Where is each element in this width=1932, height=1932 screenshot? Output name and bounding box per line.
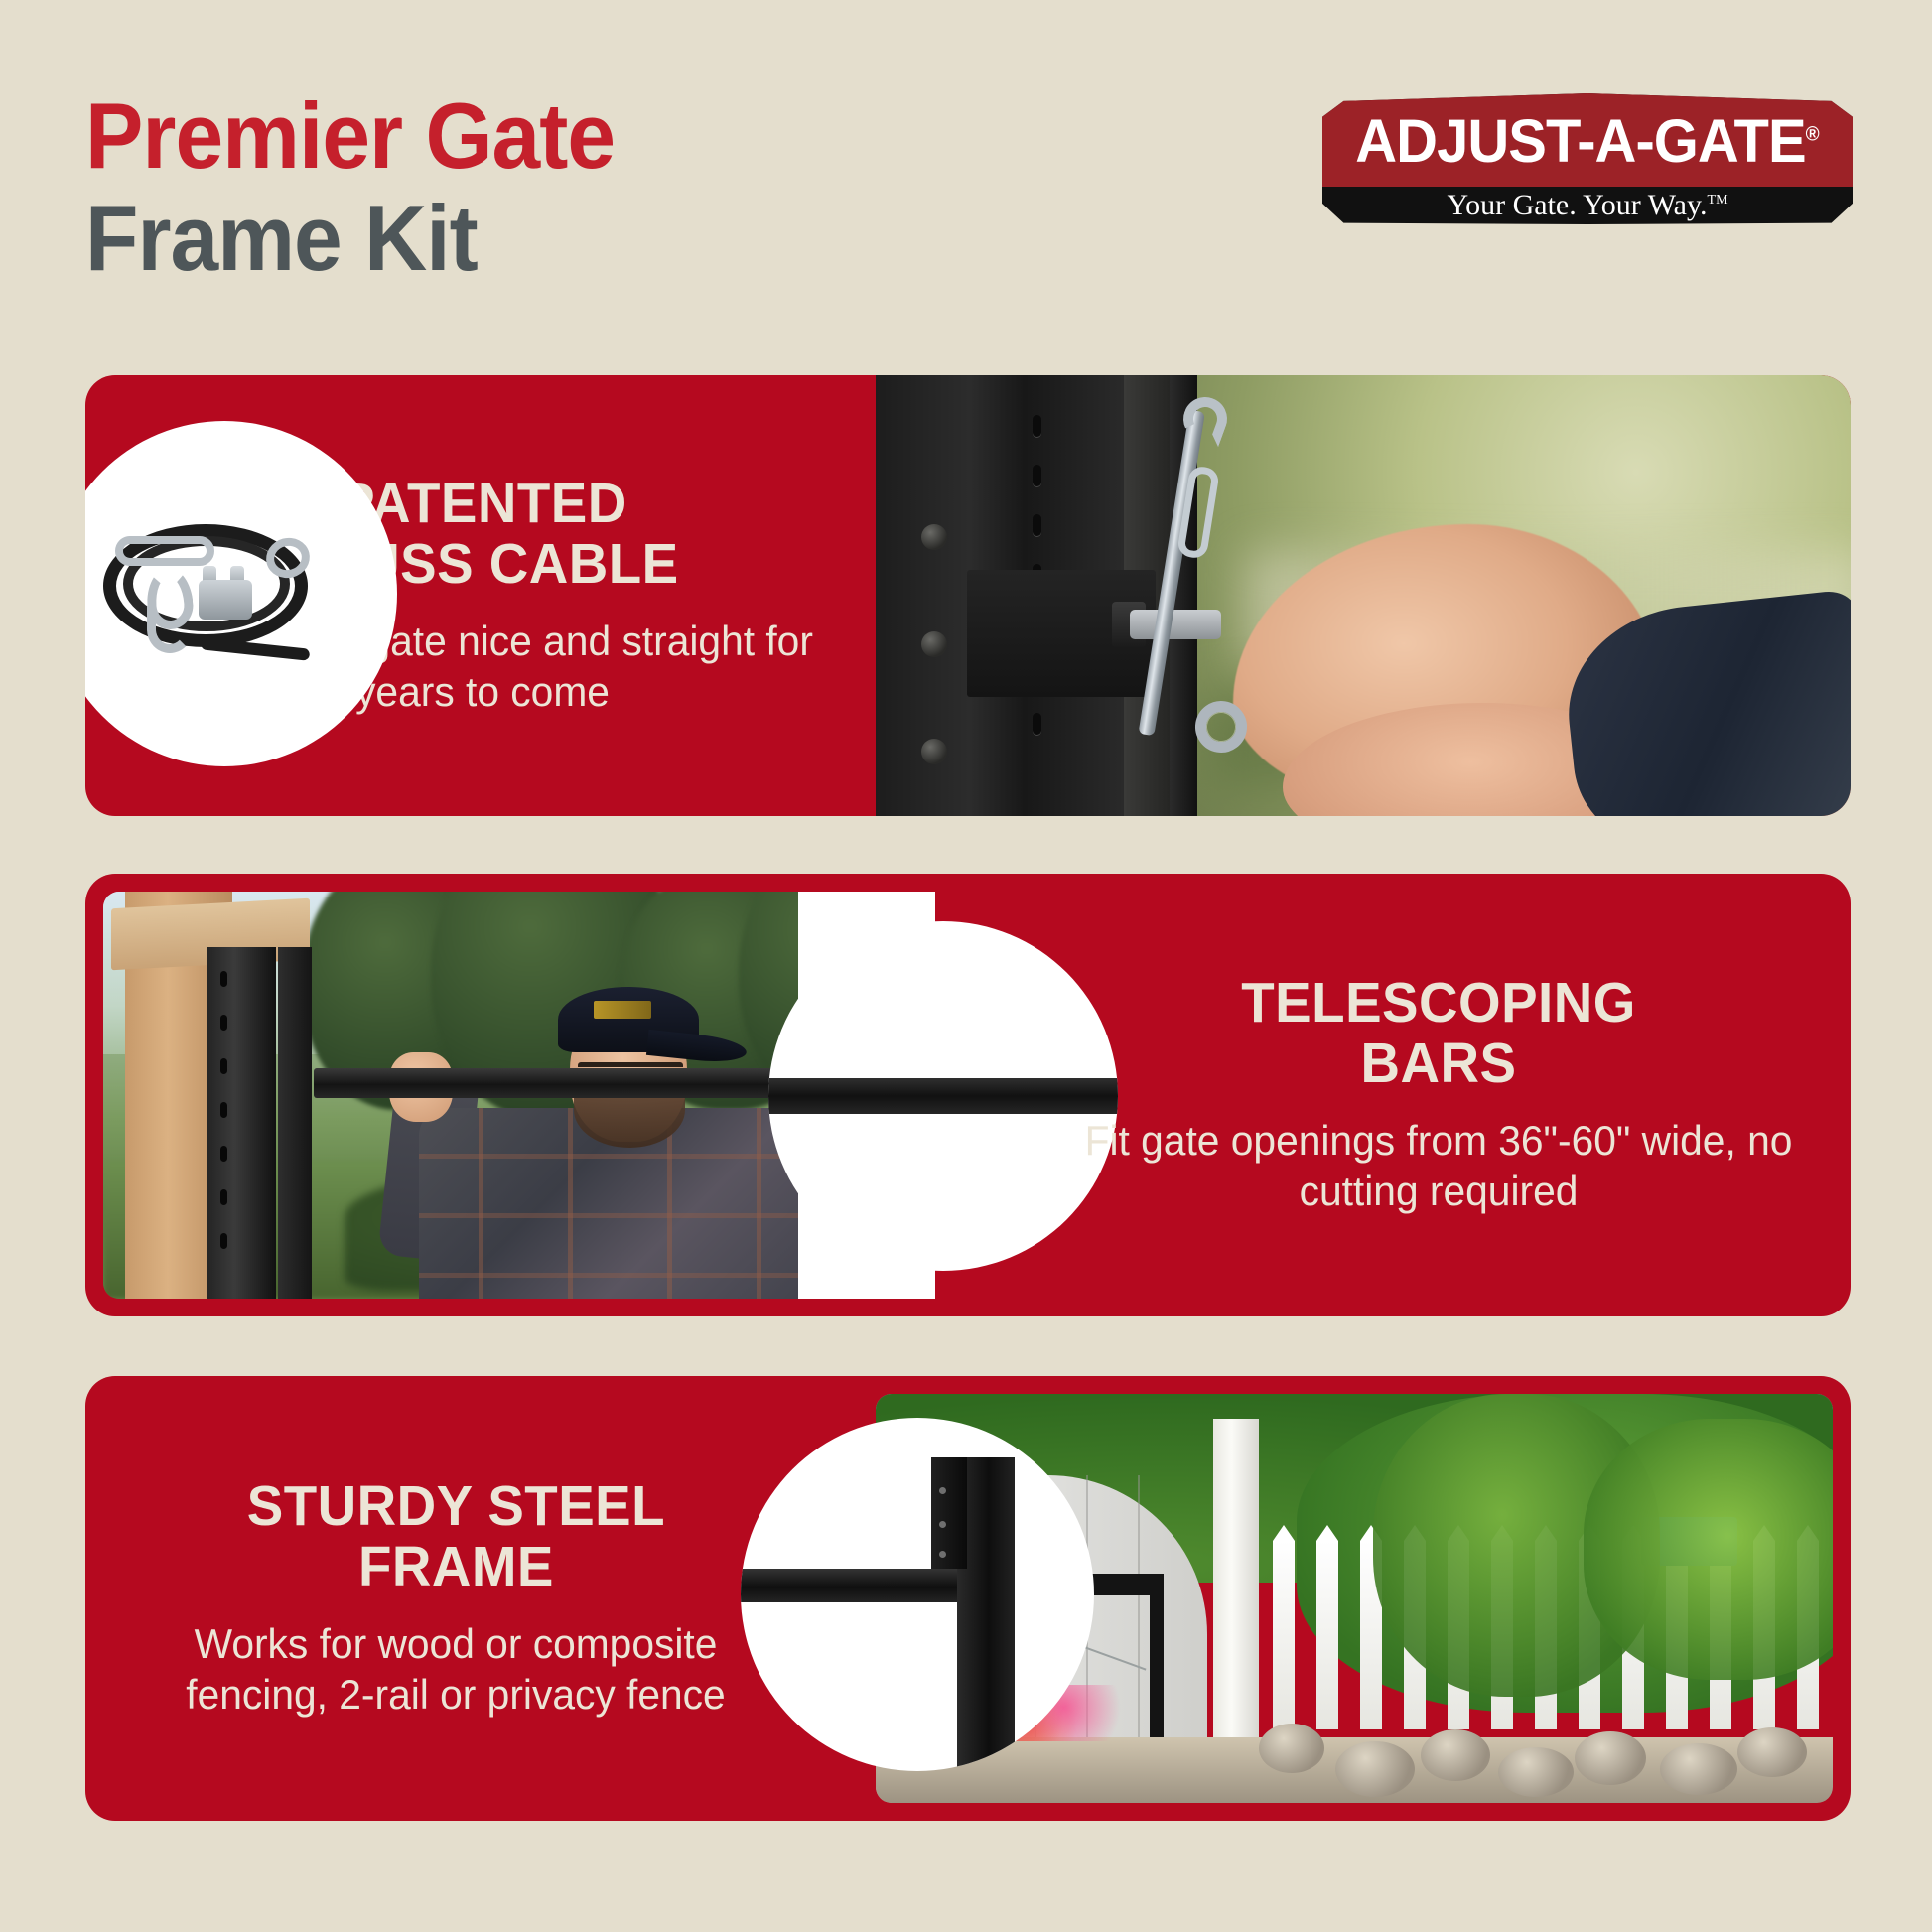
panel-heading: STURDY STEEL FRAME (246, 1476, 664, 1596)
rock (1575, 1731, 1646, 1785)
logo-shape: ADJUST-A-GATE® Your Gate. Your Way.TM (1322, 93, 1853, 224)
river-rock-border (876, 1737, 1833, 1803)
panel-body-text: Works for wood or composite fencing, 2-r… (129, 1618, 782, 1720)
panel-heading-line-1: STURDY STEEL (246, 1476, 664, 1536)
panel-text-block: TELESCOPING BARS Fit gate openings from … (1046, 874, 1831, 1316)
bolt-icon (921, 739, 947, 764)
logo-black-banner: Your Gate. Your Way.TM (1322, 187, 1853, 224)
title-line-2: Frame Kit (85, 189, 615, 288)
post-hole-icon (220, 1102, 227, 1118)
corner-bracket (931, 1457, 967, 1569)
steel-upright-inner (278, 947, 312, 1299)
brand-logo: ADJUST-A-GATE® Your Gate. Your Way.TM (1322, 93, 1853, 224)
fence-picket (1273, 1541, 1295, 1729)
rock (1660, 1743, 1737, 1795)
plaid-stripe (568, 1108, 573, 1299)
plaid-stripe (419, 1213, 836, 1218)
post-hole-icon (220, 971, 227, 987)
feature-panel-truss-cable: PATENTED TRUSS CABLE Keeps your gate nic… (85, 375, 1851, 816)
logo-red-plate: ADJUST-A-GATE® (1322, 93, 1853, 187)
plaid-stripe (419, 1154, 836, 1159)
post-hole-icon (220, 1146, 227, 1162)
bolt-icon (921, 631, 947, 657)
screw-icon (939, 1521, 946, 1528)
s-hook-icon-bottom (147, 606, 193, 653)
post-hole-icon (220, 1058, 227, 1074)
plaid-stripe (479, 1108, 483, 1299)
logo-tagline-text: Your Gate. Your Way. (1447, 189, 1707, 221)
plaid-stripe (419, 1273, 836, 1278)
title-line-1: Premier Gate (85, 89, 615, 183)
cap-logo (594, 1001, 651, 1019)
registered-icon: ® (1806, 124, 1819, 146)
rock (1737, 1727, 1807, 1777)
panel-text-block: STURDY STEEL FRAME Works for wood or com… (105, 1376, 806, 1821)
cable-tail (201, 637, 311, 660)
cable-thimble-icon (115, 536, 214, 566)
screw-icon (939, 1487, 946, 1494)
post-slot-icon (1033, 465, 1041, 486)
rock (1259, 1724, 1324, 1773)
rock (1498, 1747, 1574, 1797)
panel-heading: TELESCOPING BARS (1241, 973, 1635, 1093)
gate-frame-right-upright (1150, 1574, 1164, 1753)
panel-heading-line-1: TELESCOPING (1241, 973, 1635, 1033)
steel-frame-corner-inset (741, 1418, 1094, 1771)
trademark-icon: TM (1708, 193, 1728, 207)
tree-right (1584, 1419, 1833, 1681)
bolt-shaft (1130, 610, 1221, 639)
screw-icon (939, 1551, 946, 1558)
feature-panel-telescoping-bars: TELESCOPING BARS Fit gate openings from … (85, 874, 1851, 1316)
logo-brand-name: ADJUST-A-GATE® (1356, 107, 1819, 172)
header: Premier Gate Frame Kit ADJUST-A-GATE® Yo… (0, 0, 1932, 328)
post-hole-icon (220, 1233, 227, 1249)
feature-panel-sturdy-steel-frame: STURDY STEEL FRAME Works for wood or com… (85, 1376, 1851, 1821)
cable-clamp-icon (199, 580, 252, 620)
post-slot-icon (1033, 415, 1041, 437)
panel-heading-line-2: BARS (1241, 1034, 1635, 1093)
post-slot-icon (1033, 713, 1041, 735)
post-hole-icon (220, 1189, 227, 1205)
logo-brand-text: ADJUST-A-GATE (1356, 107, 1806, 175)
rock (1421, 1729, 1490, 1781)
bolt-icon (921, 524, 947, 550)
rock (1335, 1741, 1415, 1797)
plaid-stripe (757, 1108, 761, 1299)
panel-heading-line-2: FRAME (246, 1537, 664, 1596)
truss-cable-photo (876, 375, 1851, 816)
post-hole-icon (220, 1015, 227, 1031)
fence-picket (1316, 1541, 1338, 1729)
panel-body-text: Fit gate openings from 36"-60" wide, no … (1071, 1115, 1805, 1216)
page-title: Premier Gate Frame Kit (85, 89, 654, 288)
frame-horizontal-rail (741, 1569, 965, 1602)
logo-tagline: Your Gate. Your Way.TM (1447, 191, 1727, 220)
post-slot-icon (1033, 514, 1041, 536)
steel-upright (207, 947, 276, 1299)
